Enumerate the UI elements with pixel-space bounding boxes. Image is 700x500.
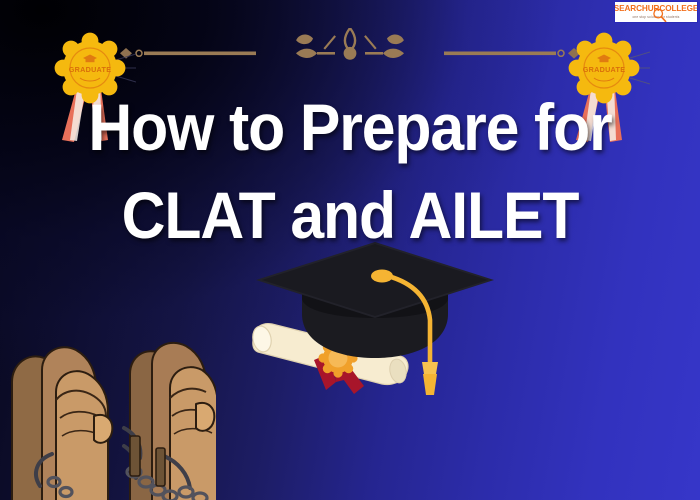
svg-text:GRADUATE: GRADUATE bbox=[583, 65, 626, 74]
svg-text:GRADUATE: GRADUATE bbox=[69, 65, 112, 74]
searchurcollege-logo[interactable]: SEARCHURCOLLEGE one stop solution for st… bbox=[614, 1, 698, 23]
headline-block: How to Prepare for CLAT and AILET bbox=[0, 90, 700, 252]
graduation-cap-and-diploma bbox=[250, 238, 500, 398]
raised-fists-with-chains bbox=[0, 296, 216, 500]
magnifying-glass-icon bbox=[652, 8, 667, 23]
headline-line-2: CLAT and AILET bbox=[28, 178, 672, 252]
logo-text-before: SEARCH bbox=[614, 4, 648, 13]
logo-wordmark: SEARCHURCOLLEGE bbox=[614, 5, 698, 13]
banner-canvas: GRADUATE bbox=[0, 0, 700, 500]
headline-line-1: How to Prepare for bbox=[28, 90, 672, 164]
